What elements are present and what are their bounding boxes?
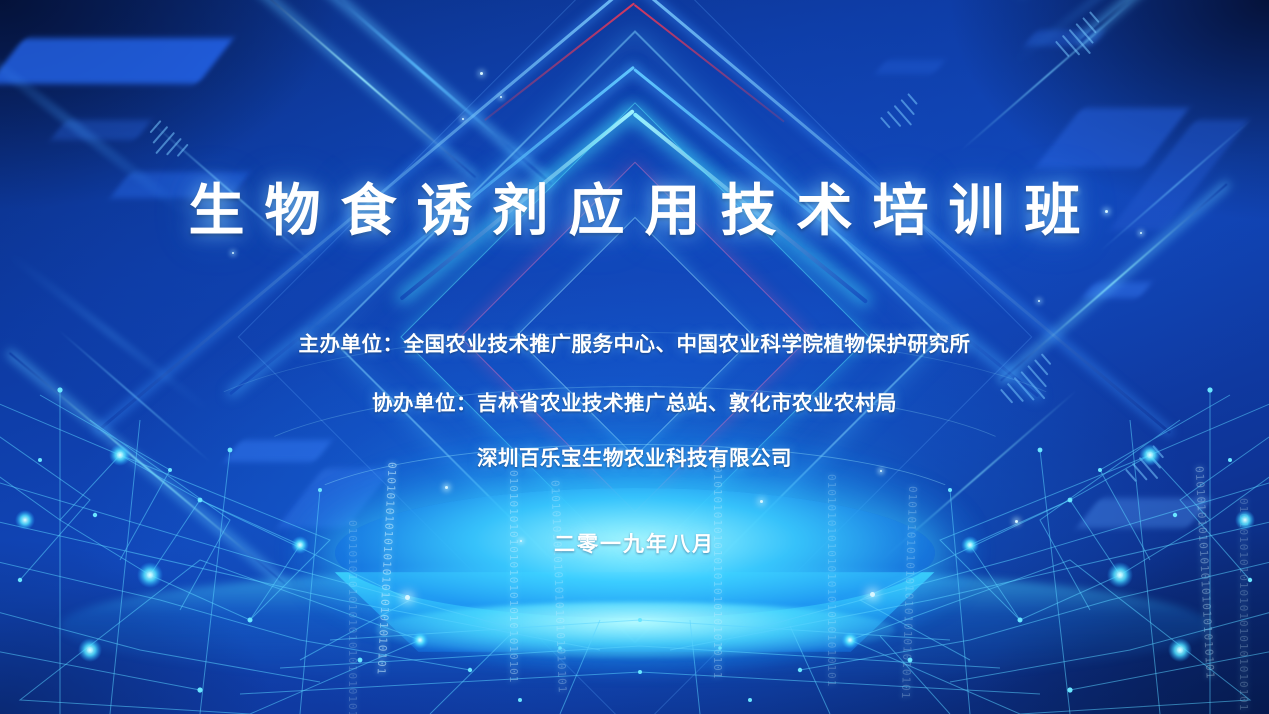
poster-canvas: 0101010101010101010101010101 01010101010… <box>0 0 1269 714</box>
poster-content: 生物食诱剂应用技术培训班 主办单位：全国农业技术推广服务中心、中国农业科学院植物… <box>0 0 1269 714</box>
poster-date: 二零一九年八月 <box>0 528 1269 558</box>
organizer-line-host: 主办单位：全国农业技术推广服务中心、中国农业科学院植物保护研究所 <box>0 327 1269 357</box>
organizer-line-coorganizer: 协办单位：吉林省农业技术推广总站、敦化市农业农村局 <box>0 386 1269 416</box>
organizer-line-company: 深圳百乐宝生物农业科技有限公司 <box>0 441 1269 471</box>
poster-title: 生物食诱剂应用技术培训班 <box>0 166 1269 247</box>
